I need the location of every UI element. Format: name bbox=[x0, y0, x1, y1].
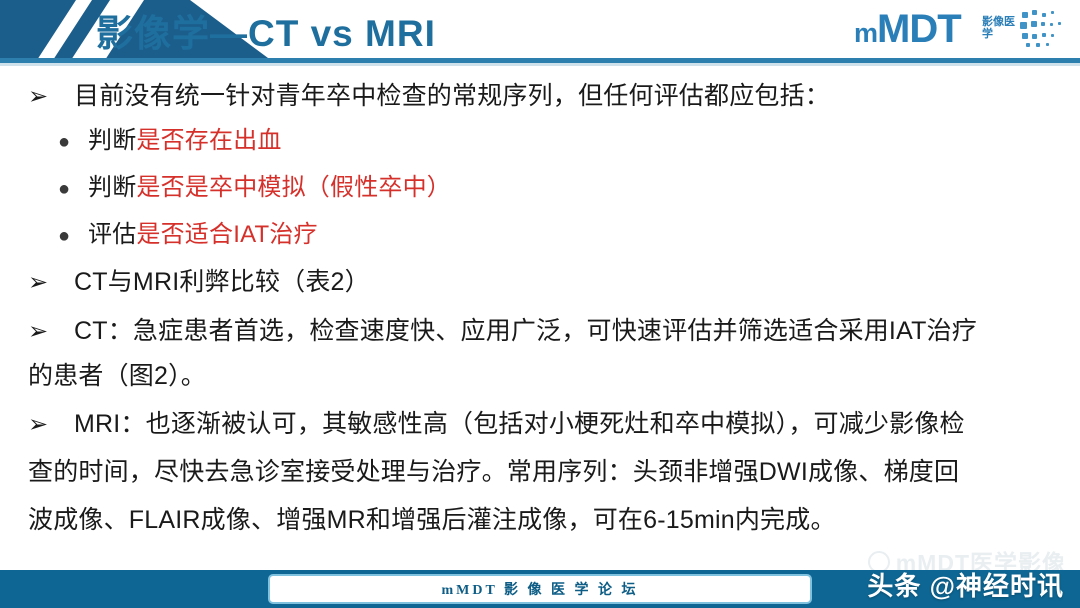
mmdt-logo: mMDT 影像医学 bbox=[854, 4, 1068, 56]
bullet-line: ➢MRI：也逐渐被认可，其敏感性高（包括对小梗死灶和卒中模拟），可减少影像检 bbox=[28, 404, 1064, 440]
sub-bullet-text: 评估 bbox=[88, 221, 136, 248]
bullet-text: CT：急症患者首选，检查速度快、应用广泛，可快速评估并筛选适合采用IAT治疗 bbox=[74, 317, 977, 345]
bullet-text: MRI：也逐渐被认可，其敏感性高（包括对小梗死灶和卒中模拟），可减少影像检 bbox=[74, 410, 965, 438]
page-title: 影像学—CT vs MRI bbox=[96, 2, 436, 58]
sub-bullet-text: 判断 bbox=[88, 127, 136, 154]
bullet-line: ➢CT：急症患者首选，检查速度快、应用广泛，可快速评估并筛选适合采用IAT治疗 bbox=[28, 311, 1064, 347]
sub-bullet-highlight: 是否适合IAT治疗 bbox=[136, 221, 317, 248]
logo-subtext: 影像医学 bbox=[982, 16, 1020, 40]
sub-bullet-text: 判断 bbox=[88, 174, 136, 201]
paragraph-continuation: 查的时间，尽快去急诊室接受处理与治疗。常用序列：头颈非增强DWI成像、梯度回 bbox=[28, 452, 1064, 488]
bullet-dot-icon: ● bbox=[58, 178, 88, 201]
slide-content: ➢目前没有统一针对青年卒中检查的常规序列，但任何评估都应包括： ●判断是否存在出… bbox=[0, 66, 1080, 556]
sub-bullet-line: ●判断是否存在出血 bbox=[58, 120, 1080, 155]
sub-bullet-highlight: 是否是卒中模拟（假性卒中） bbox=[136, 174, 451, 201]
logo-wordmark: mMDT bbox=[854, 4, 961, 58]
bullet-arrow-icon: ➢ bbox=[28, 410, 74, 439]
bullet-line: ➢目前没有统一针对青年卒中检查的常规序列，但任何评估都应包括： bbox=[28, 76, 1064, 112]
footer-text: mMDT 影 像 医 学 论 坛 bbox=[441, 579, 638, 599]
logo-prefix: m bbox=[854, 18, 877, 48]
sub-bullet-highlight: 是否存在出血 bbox=[136, 127, 281, 154]
bullet-dot-icon: ● bbox=[58, 225, 88, 248]
logo-dot-matrix-icon bbox=[1020, 10, 1066, 50]
bullet-arrow-icon: ➢ bbox=[28, 82, 74, 111]
sub-bullet-line: ●判断是否是卒中模拟（假性卒中） bbox=[58, 167, 1080, 202]
sub-bullet-line: ●评估是否适合IAT治疗 bbox=[58, 214, 1080, 249]
bullet-text: 目前没有统一针对青年卒中检查的常规序列，但任何评估都应包括： bbox=[74, 82, 830, 110]
slide-header: 影像学—CT vs MRI mMDT 影像医学 bbox=[0, 0, 1080, 62]
paragraph-continuation: 的患者（图2）。 bbox=[28, 356, 1064, 392]
logo-main: MDT bbox=[877, 7, 961, 51]
footer-banner: mMDT 影 像 医 学 论 坛 bbox=[268, 574, 812, 604]
bullet-arrow-icon: ➢ bbox=[28, 317, 74, 346]
paragraph-text: 的患者（图2）。 bbox=[28, 362, 206, 390]
bullet-text: CT与MRI利弊比较（表2） bbox=[74, 268, 370, 296]
paragraph-text: 波成像、FLAIR成像、增强MR和增强后灌注成像，可在6-15min内完成。 bbox=[28, 506, 836, 534]
paragraph-text: 查的时间，尽快去急诊室接受处理与治疗。常用序列：头颈非增强DWI成像、梯度回 bbox=[28, 458, 959, 486]
slide: 影像学—CT vs MRI mMDT 影像医学 bbox=[0, 0, 1080, 608]
bullet-dot-icon: ● bbox=[58, 131, 88, 154]
paragraph-continuation: 波成像、FLAIR成像、增强MR和增强后灌注成像，可在6-15min内完成。 bbox=[28, 500, 1064, 536]
source-attribution: 头条 @神经时讯 bbox=[867, 566, 1064, 603]
bullet-line: ➢CT与MRI利弊比较（表2） bbox=[28, 262, 1064, 298]
bullet-arrow-icon: ➢ bbox=[28, 268, 74, 297]
